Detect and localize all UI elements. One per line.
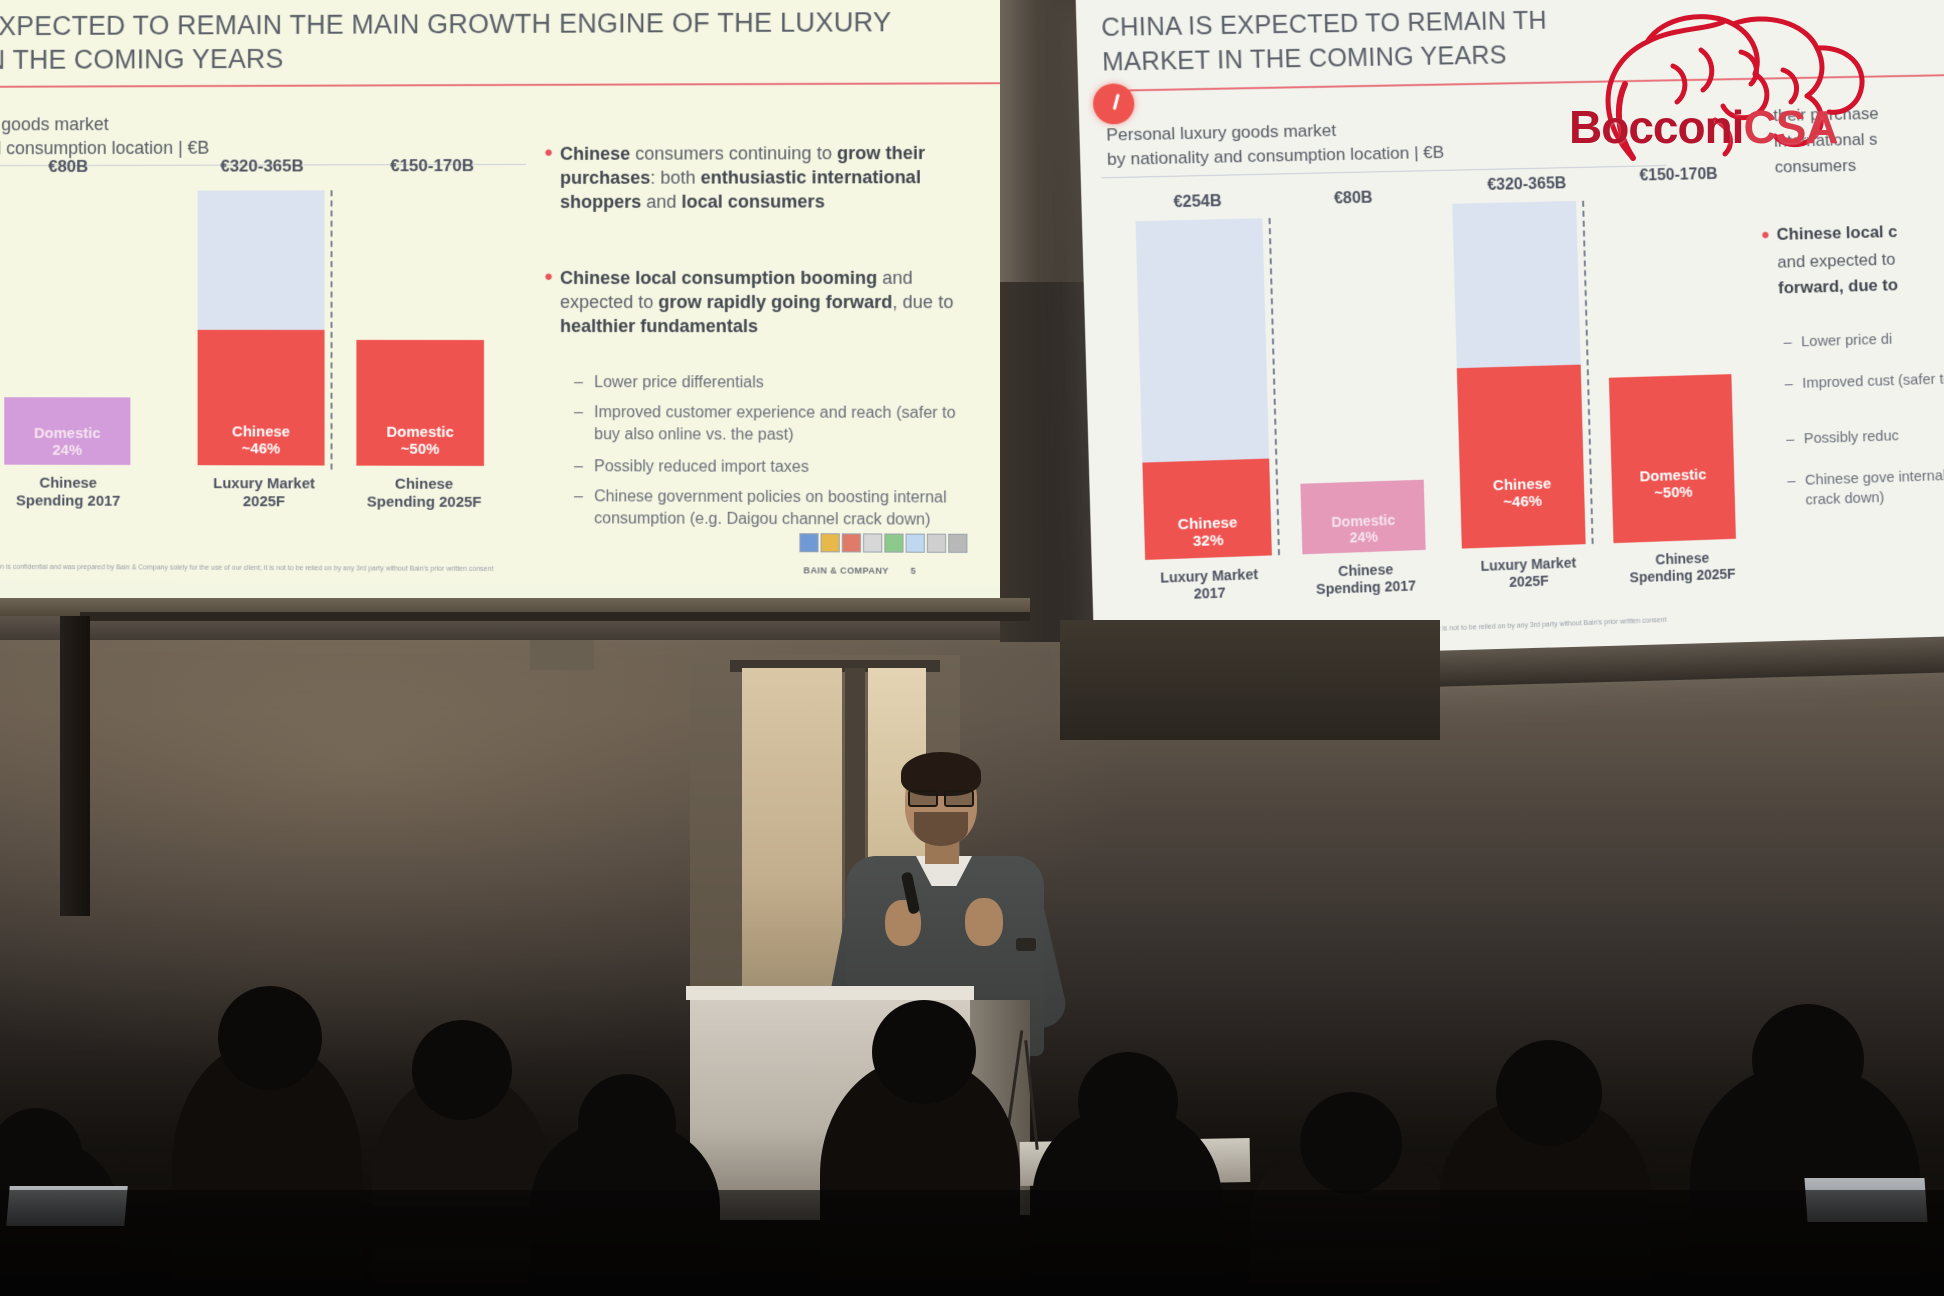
dash-icon: – — [1783, 333, 1792, 353]
watermark-csa: CSA — [1743, 101, 1837, 153]
left-bar3-label-2: ~46% — [242, 440, 280, 457]
right-bar4-domestic: Domestic ~50% — [1609, 374, 1736, 543]
left-bullet-2: ● Chinese local consumption booming and … — [544, 266, 967, 339]
presenter-right-hand — [965, 898, 1003, 946]
right-subbullet-3: – Possibly reduc — [1786, 423, 1944, 450]
left-xlabel-4-line2: Spending 2025F — [367, 494, 482, 511]
tray-icon-4 — [863, 533, 882, 552]
foreground-shadow — [0, 1190, 1944, 1296]
left-xlabel-3-line1: Luxury Market — [213, 475, 315, 492]
glasses-icon — [908, 790, 974, 803]
slide-icon-tray — [799, 533, 967, 553]
right-bar1-label-1: Chinese — [1178, 514, 1238, 533]
left-slide: S EXPECTED TO REMAIN THE MAIN GROWTH ENG… — [0, 0, 1043, 587]
left-bar2-label-1: Domestic — [34, 425, 101, 442]
right-subbullet-1: – Lower price di — [1783, 326, 1944, 353]
left-subbullet-3: – Possibly reduced import taxes — [574, 456, 978, 479]
right-bar2-label-1: Domestic — [1331, 512, 1395, 530]
podium-top — [686, 986, 974, 1000]
bullet-dot-icon: ● — [544, 143, 553, 163]
left-slide-title-line1: S EXPECTED TO REMAIN THE MAIN GROWTH ENG… — [0, 6, 1014, 44]
tray-icon-1 — [799, 533, 818, 552]
left-xlabel-2-line2: Spending 2017 — [16, 492, 120, 509]
audience-head — [1078, 1052, 1178, 1152]
left-xlabel-3-line2: 2025F — [243, 493, 285, 510]
csa-brain-logo-icon — [1555, 8, 1944, 188]
right-bar1-chinese: Chinese 32% — [1142, 459, 1272, 560]
right-bullet-tail-2: forward, due to — [1778, 271, 1944, 299]
left-bar4-domestic: Domestic ~50% — [356, 340, 484, 466]
bain-brandmark: BAIN & COMPANY — [803, 565, 888, 575]
red-circle-marker-icon — [1093, 83, 1135, 124]
left-bar2-domestic: Domestic 24% — [4, 397, 130, 465]
left-bar2-label-2: 24% — [52, 442, 82, 459]
left-dash3 — [331, 190, 333, 469]
left-title-rule — [0, 82, 1020, 88]
audience-head — [578, 1074, 676, 1172]
tray-icon-2 — [821, 533, 840, 552]
left-bar4-label-1: Domestic — [386, 424, 453, 441]
left-bullet-1: ● Chinese consumers continuing to grow t… — [544, 141, 967, 214]
right-bar4-label-1: Domestic — [1639, 466, 1706, 485]
audience-head — [218, 986, 322, 1090]
right-bar1-label-2: 32% — [1193, 532, 1224, 550]
right-xlabel-1-line1: Luxury Market — [1160, 566, 1258, 586]
dash-icon: – — [574, 486, 583, 508]
right-total-1: €254B — [1120, 192, 1274, 214]
lecture-hall-photo: S EXPECTED TO REMAIN THE MAIN GROWTH ENG… — [0, 0, 1944, 1296]
right-bar4-label-2: ~50% — [1654, 484, 1693, 502]
wall-dark-panel — [1060, 620, 1440, 740]
audience-head — [412, 1020, 512, 1120]
wall-rail — [80, 612, 1030, 621]
left-xlabel-2-line1: Chinese — [39, 475, 97, 492]
presenter-watch — [1016, 938, 1036, 951]
tray-icon-8 — [948, 534, 967, 553]
watermark-text: BocconiCSA — [1569, 100, 1838, 154]
bullet-dot-icon: ● — [544, 267, 553, 287]
right-subbullet-4: – Chinese gove internal consu crack down… — [1787, 464, 1944, 512]
right-slide-subtitle-line2: by nationality and consumption location … — [1107, 142, 1445, 171]
left-bar3-label-1: Chinese — [232, 423, 290, 440]
audience-head — [1752, 1004, 1864, 1116]
left-slide-page-number: 5 — [911, 566, 916, 576]
left-subbullet-1: – Lower price differentials — [574, 372, 978, 394]
tray-icon-5 — [884, 533, 903, 552]
left-bar4-label-2: ~50% — [401, 441, 440, 458]
right-xlabel-1-line2: 2017 — [1193, 584, 1225, 601]
left-slide-subtitle-line1: uxury goods market — [0, 113, 109, 137]
wall-post-left — [60, 616, 90, 916]
left-total-4: €150-170B — [342, 156, 522, 176]
left-xlabel-4-line1: Chinese — [395, 476, 453, 493]
left-slide-title-line2: T IN THE COMING YEARS — [0, 40, 1014, 77]
tray-icon-6 — [906, 534, 925, 553]
dash-icon: – — [574, 456, 583, 478]
presenter-beard — [914, 812, 968, 846]
left-projection-screen: S EXPECTED TO REMAIN THE MAIN GROWTH ENG… — [0, 0, 1043, 609]
right-xlabel-2-line2: Spending 2017 — [1316, 577, 1416, 597]
wall-vent — [530, 640, 594, 670]
right-xlabel-4-line1: Chinese — [1655, 550, 1709, 568]
right-slide-subtitle-line1: Personal luxury goods market — [1106, 120, 1336, 147]
dash-icon: – — [574, 402, 583, 424]
right-bar2-label-2: 24% — [1349, 529, 1378, 546]
audience-head — [1496, 1040, 1602, 1146]
left-slide-footnote: This information is confidential and was… — [0, 564, 731, 574]
left-subbullet-4: – Chinese government policies on boostin… — [574, 486, 978, 531]
right-bar3-other — [1452, 201, 1580, 368]
left-bar3-chinese: Chinese ~46% — [198, 330, 325, 466]
watermark-bocconi: Bocconi — [1569, 101, 1743, 153]
left-total-2: €80B — [0, 157, 142, 177]
right-bullet-bold-partial: ● Chinese local c — [1761, 219, 1944, 247]
right-bar3-label-2: ~46% — [1503, 493, 1542, 511]
left-bar3-other — [198, 190, 325, 330]
audience-head — [1300, 1092, 1402, 1194]
right-bar3-chinese: Chinese ~46% — [1457, 365, 1586, 549]
audience-head — [872, 1000, 976, 1104]
bullet-dot-icon: ● — [1761, 225, 1770, 245]
right-bar3-label-1: Chinese — [1493, 475, 1552, 494]
tray-icon-7 — [927, 534, 946, 553]
right-xlabel-3-line2: 2025F — [1509, 572, 1549, 589]
right-subbullet-2: – Improved cust (safer to buy a — [1784, 368, 1944, 395]
bocconi-csa-watermark: BocconiCSA — [1555, 8, 1944, 188]
right-bullet-tail-1: and expected to — [1777, 246, 1944, 274]
right-total-2: €80B — [1282, 188, 1424, 209]
dash-icon: – — [1787, 471, 1796, 491]
dash-icon: – — [1784, 374, 1793, 394]
right-bar2-domestic: Domestic 24% — [1300, 480, 1425, 555]
right-xlabel-2-line1: Chinese — [1338, 561, 1393, 579]
left-total-3: €320-365B — [168, 156, 356, 176]
dash-icon: – — [574, 372, 583, 394]
tray-icon-3 — [842, 533, 861, 552]
left-subbullet-2: – Improved customer experience and reach… — [574, 402, 978, 446]
right-xlabel-4-line2: Spending 2025F — [1629, 565, 1735, 585]
right-xlabel-3-line1: Luxury Market — [1480, 554, 1576, 573]
right-bar1-other — [1136, 218, 1270, 462]
dash-icon: – — [1786, 430, 1795, 450]
